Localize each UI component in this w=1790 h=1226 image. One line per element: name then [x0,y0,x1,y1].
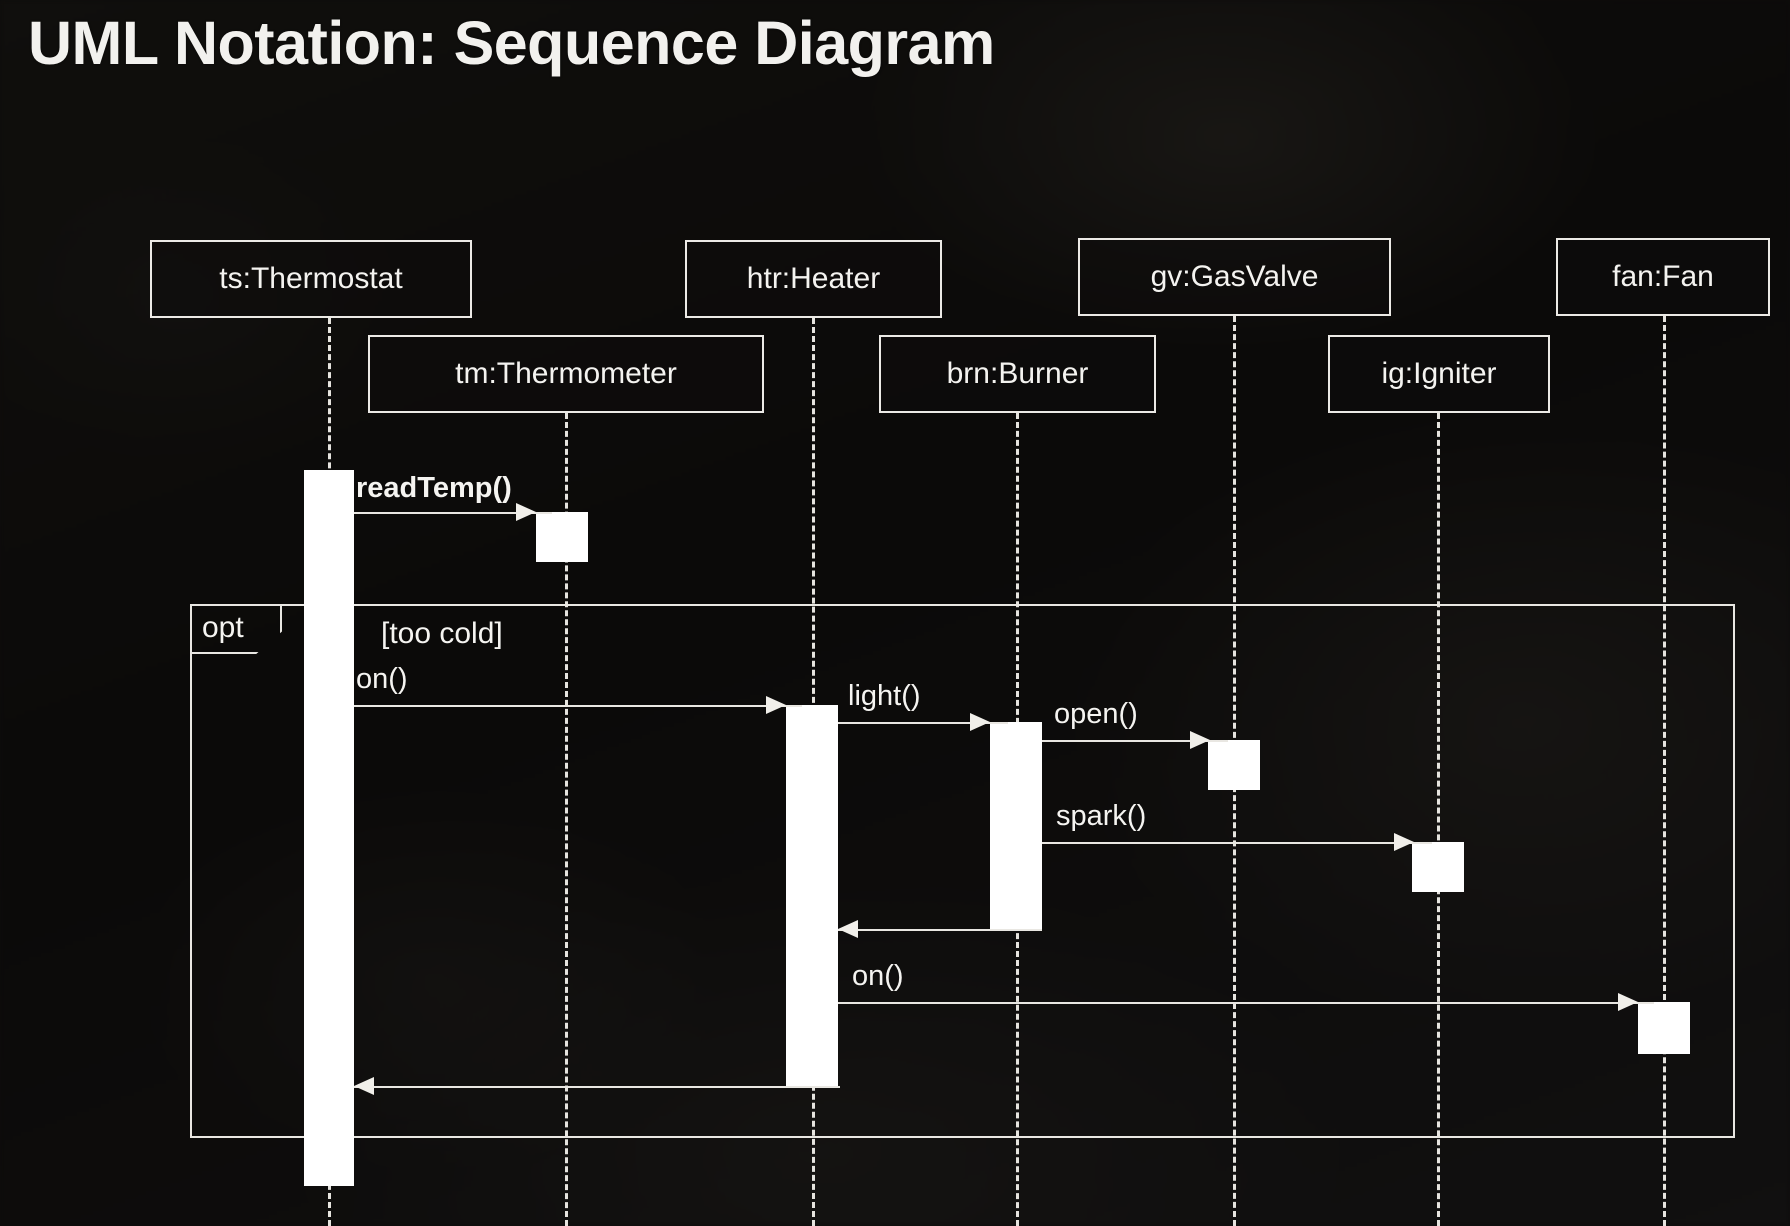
lifeline-label-ts: ts:Thermostat [219,262,402,296]
message-label-light: light() [848,680,921,713]
activation-htr [786,705,838,1086]
activation-gv [1208,740,1260,790]
fragment-guard: [too cold] [381,617,503,651]
message-label-on-fan: on() [852,960,904,993]
lifeline-head-ig[interactable]: ig:Igniter [1328,335,1550,413]
message-label-spark: spark() [1056,800,1146,833]
slide-canvas: UML Notation: Sequence Diagram ts:Thermo… [0,0,1790,1226]
lifeline-label-tm: tm:Thermometer [455,357,677,391]
lifeline-label-fan: fan:Fan [1612,260,1714,294]
message-line-on-heater [354,705,802,707]
message-arrowhead-open [1190,731,1210,749]
message-line-return-burner [838,929,1042,931]
lifeline-head-tm[interactable]: tm:Thermometer [368,335,764,413]
lifeline-head-htr[interactable]: htr:Heater [685,240,942,318]
message-line-return-heater [354,1086,840,1088]
activation-fan [1638,1002,1690,1054]
slide-title: UML Notation: Sequence Diagram [28,8,995,78]
activation-brn [990,722,1042,929]
message-label-open: open() [1054,698,1138,731]
lifeline-head-fan[interactable]: fan:Fan [1556,238,1770,316]
message-arrowhead-spark [1394,833,1414,851]
lifeline-head-gv[interactable]: gv:GasValve [1078,238,1391,316]
sequence-diagram: UML Notation: Sequence Diagram ts:Thermo… [0,0,1790,1226]
message-arrowhead-return-heater [354,1077,374,1095]
fragment-opt [190,604,1735,1138]
message-arrowhead-return-burner [838,920,858,938]
lifeline-label-brn: brn:Burner [947,357,1089,391]
activation-ts [304,470,354,1186]
message-arrowhead-on-heater [766,696,786,714]
activation-tm [536,512,588,562]
message-arrowhead-on-fan [1618,993,1638,1011]
message-line-spark [1042,842,1432,844]
lifeline-head-ts[interactable]: ts:Thermostat [150,240,472,318]
lifeline-label-htr: htr:Heater [747,262,880,296]
lifeline-head-brn[interactable]: brn:Burner [879,335,1156,413]
activation-ig [1412,842,1464,892]
lifeline-label-gv: gv:GasValve [1151,260,1319,294]
message-line-on-fan [838,1002,1654,1004]
message-label-on-heater: on() [356,663,408,696]
message-arrowhead-light [970,713,990,731]
lifeline-label-ig: ig:Igniter [1381,357,1496,391]
message-arrowhead-readTemp [516,503,536,521]
message-label-readTemp: readTemp() [356,472,512,505]
